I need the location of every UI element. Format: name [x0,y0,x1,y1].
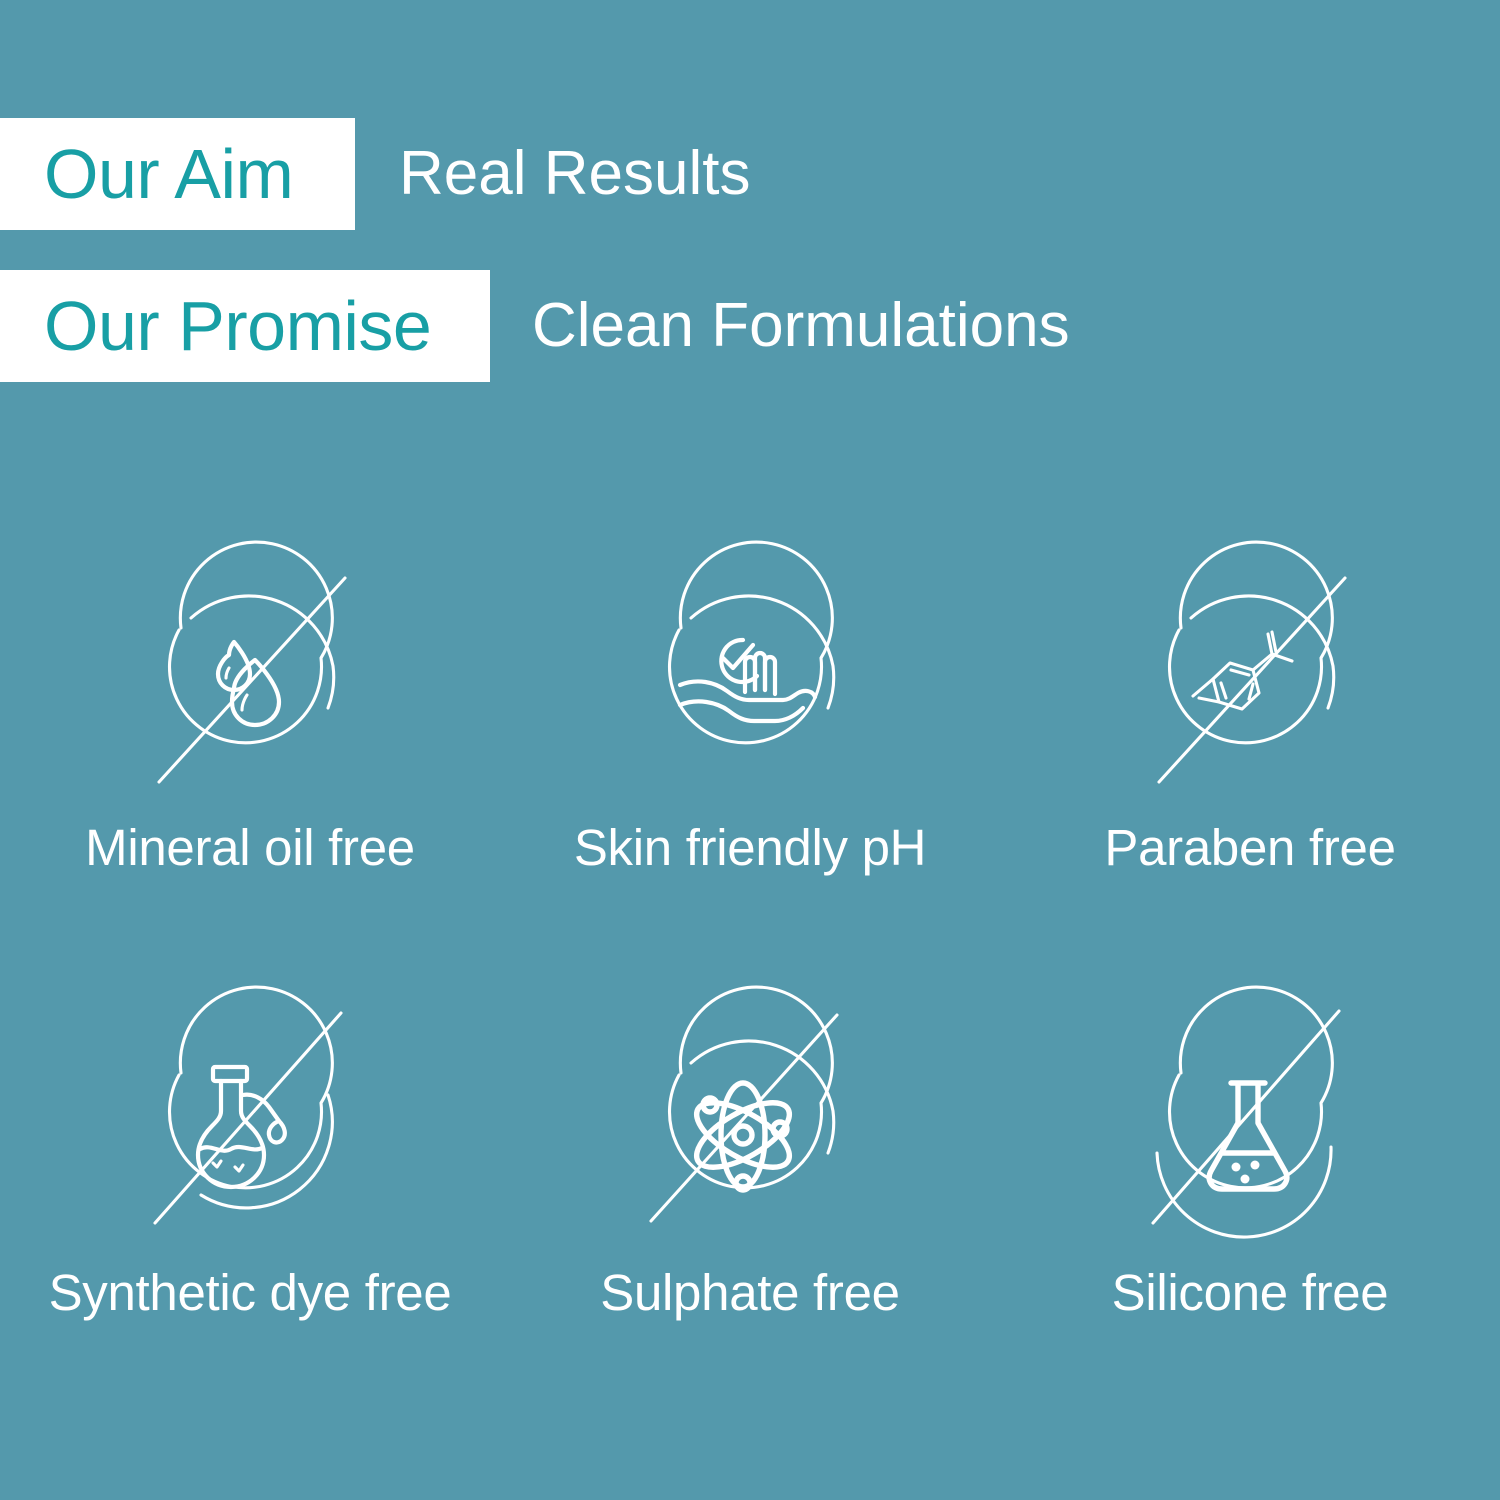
promo-graphic: Our Aim Real Results Our Promise Clean F… [0,0,1500,1500]
benzene-molecule-icon [1135,550,1365,800]
feature-silicone-free: Silicone free [1000,985,1500,1430]
our-aim-value: Real Results [399,118,750,230]
feature-label: Silicone free [1112,1265,1389,1321]
feature-paraben-free: Paraben free [1000,540,1500,985]
header-row-our-promise: Our Promise Clean Formulations [0,270,1070,382]
our-promise-tag-box: Our Promise [0,270,490,382]
our-aim-tag-label: Our Aim [44,139,293,209]
header-row-our-aim: Our Aim Real Results [0,118,750,230]
feature-label: Sulphate free [600,1265,900,1321]
dropper-flask-icon [135,995,365,1245]
feature-label: Skin friendly pH [574,820,926,876]
feature-label: Mineral oil free [85,820,415,876]
feature-mineral-oil-free: Mineral oil free [0,540,500,985]
feature-label: Paraben free [1104,820,1395,876]
our-aim-tag-box: Our Aim [0,118,355,230]
our-promise-tag-label: Our Promise [44,291,431,361]
feature-label: Synthetic dye free [49,1265,452,1321]
atom-icon [635,995,865,1245]
feature-skin-friendly-ph: Skin friendly pH [500,540,1000,985]
oil-drops-icon [135,550,365,800]
feature-synthetic-dye-free: Synthetic dye free [0,985,500,1430]
conical-flask-icon [1135,995,1365,1245]
hand-check-icon [635,550,865,800]
our-promise-value: Clean Formulations [532,270,1070,382]
feature-sulphate-free: Sulphate free [500,985,1000,1430]
feature-grid: Mineral oil free [0,540,1500,1430]
